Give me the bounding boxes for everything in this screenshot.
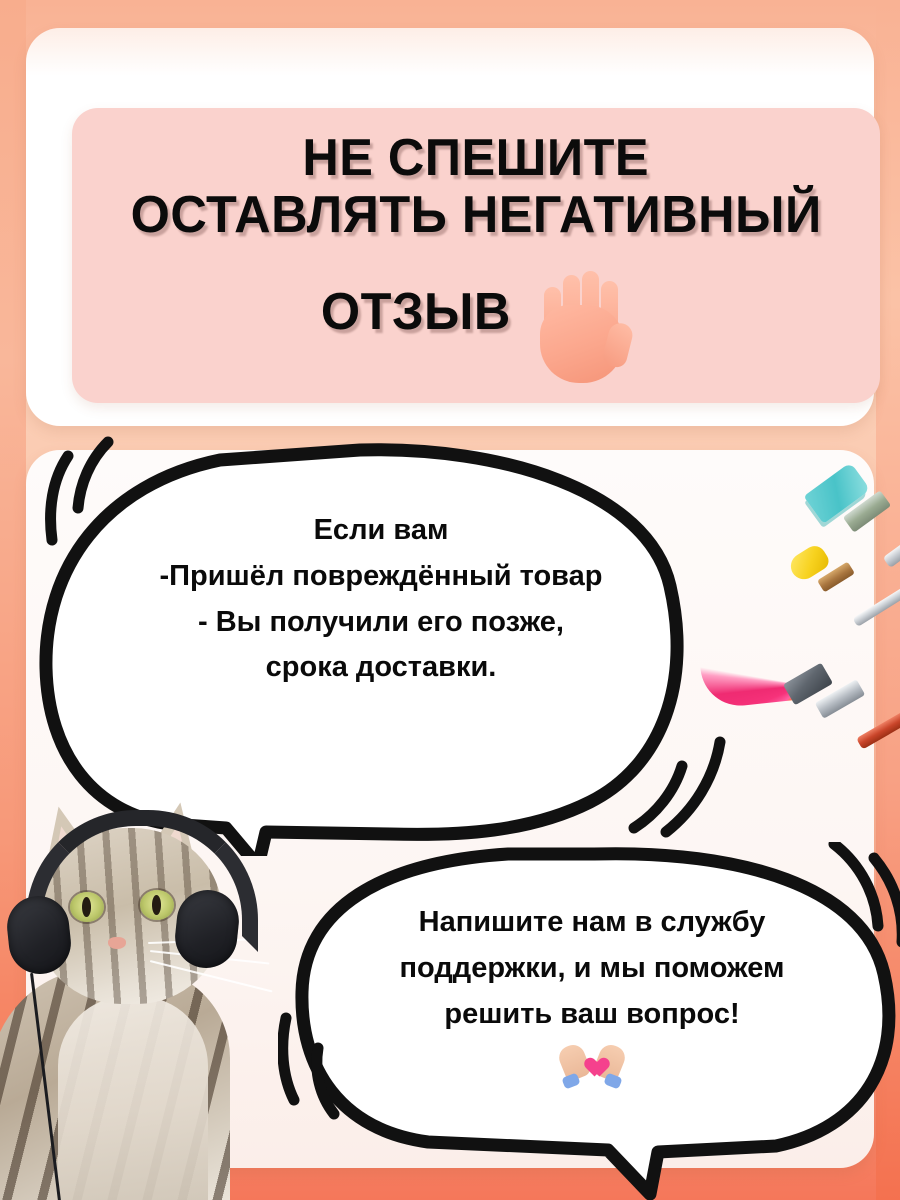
speech-bubble-support-text: Напишите нам в службу поддержки, и мы по… <box>332 900 852 1087</box>
cat-chest <box>58 996 208 1200</box>
speech-bubble-support: Напишите нам в службу поддержки, и мы по… <box>278 842 900 1200</box>
bubble-one-line-1: Если вам <box>86 508 676 554</box>
bubble-two-line-3: решить ваш вопрос! <box>332 992 852 1038</box>
bubble-one-line-4: срока доставки. <box>86 645 676 691</box>
bubble-one-line-2: -Пришёл повреждённый товар <box>86 554 676 600</box>
speech-bubble-conditions: Если вам -Пришёл повреждённый товар - Вы… <box>30 436 730 856</box>
title-line-1: НЕ СПЕШИТЕ <box>303 130 650 187</box>
title-panel: НЕ СПЕШИТЕ ОСТАВЛЯТЬ НЕГАТИВНЫЙ ОТЗЫВ <box>72 108 880 403</box>
heart-hands-icon <box>557 1041 627 1087</box>
cat-with-headphones-photo <box>0 800 300 1200</box>
bubble-one-line-3: - Вы получили его позже, <box>86 600 676 646</box>
bubble-two-line-1: Напишите нам в службу <box>332 900 852 946</box>
raised-hand-icon <box>530 261 634 381</box>
title-line-3-row: ОТЗЫВ <box>318 243 634 381</box>
pink-paint-brush-icon <box>700 610 900 810</box>
title-line-2: ОСТАВЛЯТЬ НЕГАТИВНЫЙ <box>130 187 821 244</box>
poster-root: НЕ СПЕШИТЕ ОСТАВЛЯТЬ НЕГАТИВНЫЙ ОТЗЫВ <box>0 0 900 1200</box>
title-card: НЕ СПЕШИТЕ ОСТАВЛЯТЬ НЕГАТИВНЫЙ ОТЗЫВ <box>26 28 874 426</box>
speech-bubble-conditions-text: Если вам -Пришёл повреждённый товар - Вы… <box>86 508 676 691</box>
bubble-two-line-2: поддержки, и мы поможем <box>332 946 852 992</box>
title-line-3: ОТЗЫВ <box>321 284 511 341</box>
